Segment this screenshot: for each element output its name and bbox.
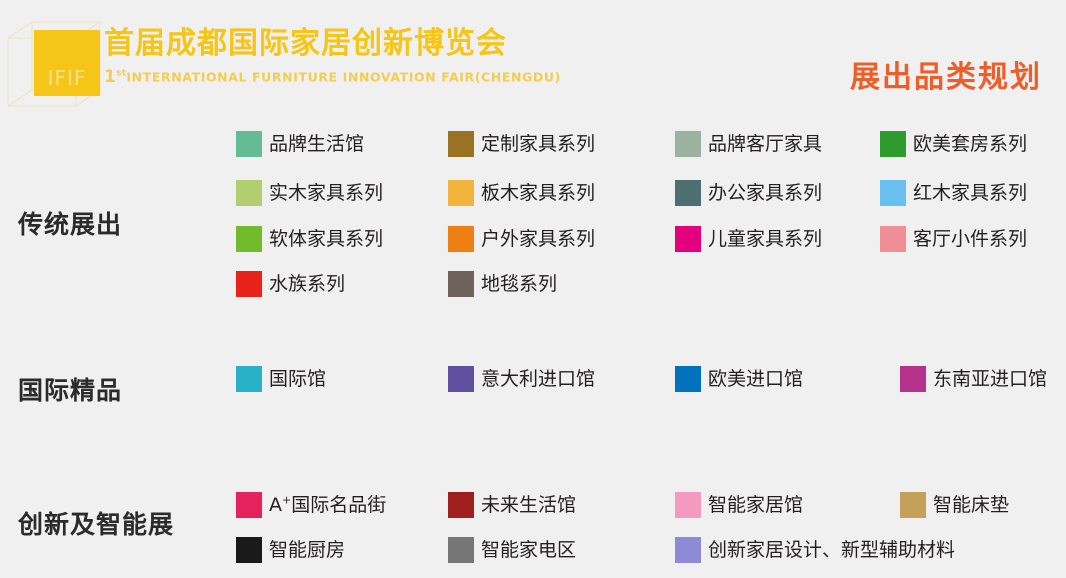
category-item-label: 红木家具系列 — [913, 180, 1027, 206]
color-swatch-icon — [880, 180, 906, 206]
color-swatch-icon — [900, 366, 926, 392]
ordinal-number: 1st — [104, 67, 126, 87]
category-item-label: 国际馆 — [269, 366, 326, 392]
category-item[interactable]: 定制家具系列 — [448, 131, 595, 157]
category-item-label: 软体家具系列 — [269, 226, 383, 252]
category-item-label: 创新家居设计、新型辅助材料 — [708, 537, 955, 563]
category-item[interactable]: 实木家具系列 — [236, 180, 383, 206]
color-swatch-icon — [236, 131, 262, 157]
category-item-label: 欧美进口馆 — [708, 366, 803, 392]
page-header: IFIF 首届成都国际家居创新博览会 1stINTERNATIONAL FURN… — [0, 0, 1066, 112]
category-item-label: 实木家具系列 — [269, 180, 383, 206]
page-title: 展出品类规划 — [850, 52, 1042, 96]
category-item-label: 办公家具系列 — [708, 180, 822, 206]
category-item[interactable]: 软体家具系列 — [236, 226, 383, 252]
color-swatch-icon — [236, 226, 262, 252]
color-swatch-icon — [448, 180, 474, 206]
category-item-label: 板木家具系列 — [481, 180, 595, 206]
category-item[interactable]: 板木家具系列 — [448, 180, 595, 206]
category-item[interactable]: 智能家居馆 — [675, 492, 803, 518]
category-item[interactable]: 客厅小件系列 — [880, 226, 1027, 252]
ifif-logo: IFIF — [22, 22, 108, 108]
color-swatch-icon — [448, 366, 474, 392]
category-item[interactable]: 水族系列 — [236, 271, 345, 297]
color-swatch-icon — [448, 131, 474, 157]
color-swatch-icon — [880, 131, 906, 157]
category-item[interactable]: A+国际名品街 — [236, 492, 386, 518]
category-item-label: 智能厨房 — [269, 537, 345, 563]
section-label-2: 创新及智能展 — [18, 505, 174, 541]
section-label-1: 国际精品 — [18, 371, 122, 407]
category-item-label: 未来生活馆 — [481, 492, 576, 518]
color-swatch-icon — [448, 271, 474, 297]
color-swatch-icon — [236, 180, 262, 206]
event-sub-title: 1stINTERNATIONAL FURNITURE INNOVATION FA… — [104, 66, 561, 85]
category-item-label: 水族系列 — [269, 271, 345, 297]
category-item[interactable]: 欧美套房系列 — [880, 131, 1027, 157]
category-item[interactable]: 地毯系列 — [448, 271, 557, 297]
logo-text: IFIF — [34, 30, 100, 96]
category-item-label: 东南亚进口馆 — [933, 366, 1047, 392]
category-item-label: 智能家电区 — [481, 537, 576, 563]
category-item-label: 地毯系列 — [481, 271, 557, 297]
category-item[interactable]: 户外家具系列 — [448, 226, 595, 252]
color-swatch-icon — [236, 271, 262, 297]
category-item-label: 客厅小件系列 — [913, 226, 1027, 252]
category-item[interactable]: 品牌客厅家具 — [675, 131, 822, 157]
ordinal-suffix: st — [116, 68, 126, 78]
category-item[interactable]: 意大利进口馆 — [448, 366, 595, 392]
color-swatch-icon — [448, 492, 474, 518]
section-label-0: 传统展出 — [18, 205, 122, 241]
color-swatch-icon — [448, 537, 474, 563]
category-item[interactable]: 国际馆 — [236, 366, 326, 392]
ordinal-digit: 1 — [104, 67, 116, 87]
category-item[interactable]: 智能床垫 — [900, 492, 1009, 518]
color-swatch-icon — [236, 492, 262, 518]
color-swatch-icon — [880, 226, 906, 252]
category-item-label: 智能家居馆 — [708, 492, 803, 518]
category-item-label: A+国际名品街 — [269, 492, 386, 518]
category-item[interactable]: 东南亚进口馆 — [900, 366, 1047, 392]
category-item[interactable]: 智能厨房 — [236, 537, 345, 563]
color-swatch-icon — [236, 366, 262, 392]
category-item[interactable]: 办公家具系列 — [675, 180, 822, 206]
category-item[interactable]: 品牌生活馆 — [236, 131, 364, 157]
color-swatch-icon — [675, 492, 701, 518]
color-swatch-icon — [675, 537, 701, 563]
category-item-label: 意大利进口馆 — [481, 366, 595, 392]
category-item-label: 品牌生活馆 — [269, 131, 364, 157]
color-swatch-icon — [675, 180, 701, 206]
category-item-label: 欧美套房系列 — [913, 131, 1027, 157]
label-superscript: + — [282, 494, 291, 507]
category-item-label: 户外家具系列 — [481, 226, 595, 252]
category-item[interactable]: 未来生活馆 — [448, 492, 576, 518]
category-item-label: 定制家具系列 — [481, 131, 595, 157]
sub-title-english: INTERNATIONAL FURNITURE INNOVATION FAIR(… — [126, 70, 561, 85]
color-swatch-icon — [675, 131, 701, 157]
category-item[interactable]: 儿童家具系列 — [675, 226, 822, 252]
color-swatch-icon — [675, 366, 701, 392]
title-block: 首届成都国际家居创新博览会 1stINTERNATIONAL FURNITURE… — [104, 26, 561, 85]
category-item[interactable]: 创新家居设计、新型辅助材料 — [675, 537, 955, 563]
category-item[interactable]: 红木家具系列 — [880, 180, 1027, 206]
event-main-title: 首届成都国际家居创新博览会 — [104, 26, 561, 62]
category-item[interactable]: 欧美进口馆 — [675, 366, 803, 392]
category-item-label: 智能床垫 — [933, 492, 1009, 518]
category-item[interactable]: 智能家电区 — [448, 537, 576, 563]
category-item-label: 品牌客厅家具 — [708, 131, 822, 157]
color-swatch-icon — [900, 492, 926, 518]
color-swatch-icon — [236, 537, 262, 563]
color-swatch-icon — [675, 226, 701, 252]
color-swatch-icon — [448, 226, 474, 252]
category-item-label: 儿童家具系列 — [708, 226, 822, 252]
